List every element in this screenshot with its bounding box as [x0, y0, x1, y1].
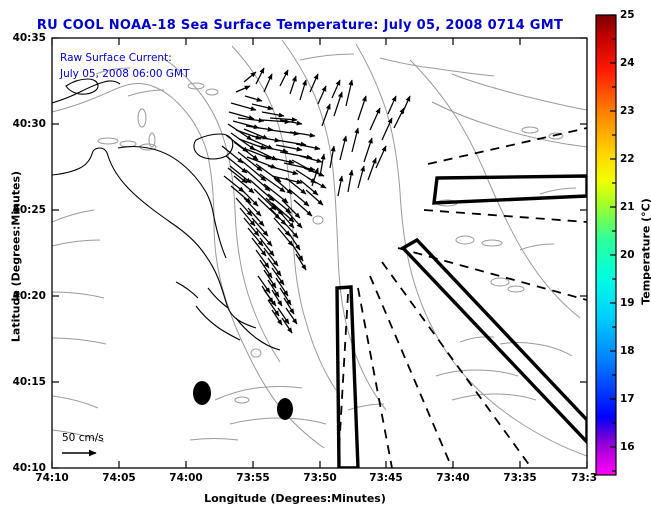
y-tick-label: 40:25 [4, 204, 46, 216]
annotation-line-1: Raw Surface Current: [60, 52, 172, 64]
colorbar-tick-label: 20 [620, 249, 635, 261]
colorbar-tick-label: 19 [620, 297, 635, 309]
colorbar-tick-label: 23 [620, 105, 635, 117]
map-background [52, 38, 587, 468]
y-axis-label: Latitude (Degrees:Minutes) [10, 157, 23, 357]
y-tick-label: 40:20 [4, 290, 46, 302]
y-tick-label: 40:10 [4, 462, 46, 474]
x-tick-label: 73:50 [303, 472, 336, 484]
colorbar-tick-label: 18 [620, 345, 635, 357]
annotation-line-2: July 05, 2008 06:00 GMT [60, 68, 190, 80]
scale-legend-label: 50 cm/s [62, 432, 104, 444]
colorbar-tick-label: 22 [620, 153, 635, 165]
colorbar-tick-label: 24 [620, 57, 635, 69]
x-tick-label: 74:00 [169, 472, 202, 484]
y-tick-label: 40:15 [4, 376, 46, 388]
y-tick-label: 40:35 [4, 32, 46, 44]
x-tick-label: 73:3 [571, 472, 597, 484]
x-tick-label: 73:45 [369, 472, 402, 484]
y-tick-label: 40:30 [4, 118, 46, 130]
colorbar-tick-label: 25 [620, 9, 635, 21]
x-tick-label: 73:40 [436, 472, 469, 484]
x-tick-label: 73:55 [236, 472, 269, 484]
station-marker[interactable] [277, 398, 293, 420]
colorbar-tick-label: 16 [620, 441, 635, 453]
colorbar-tick-label: 21 [620, 201, 635, 213]
station-marker[interactable] [193, 381, 211, 405]
x-tick-label: 74:05 [102, 472, 135, 484]
x-tick-label: 73:35 [503, 472, 536, 484]
colorbar-label: Temperature (°C) [640, 172, 651, 332]
sst-map-figure: RU COOL NOAA-18 Sea Surface Temperature:… [0, 0, 651, 518]
colorbar-tick-label: 17 [620, 393, 635, 405]
x-axis-label: Longitude (Degrees:Minutes) [0, 492, 590, 505]
colorbar [596, 15, 616, 475]
